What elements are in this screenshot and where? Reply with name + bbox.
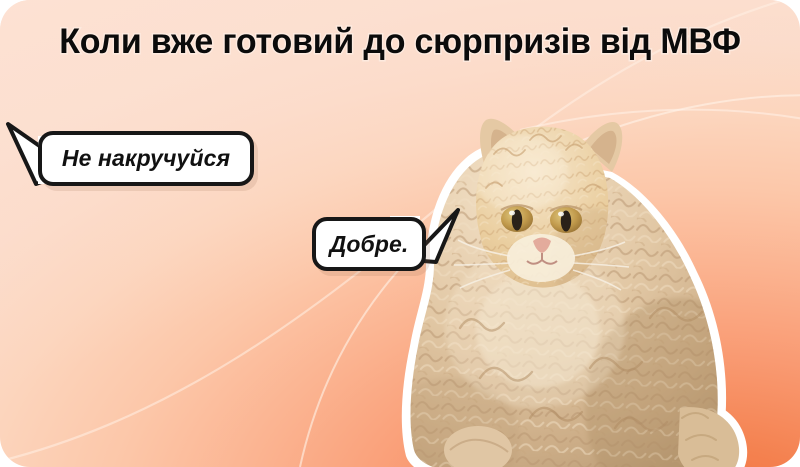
meme-canvas: Коли вже готовий до сюрпризів від МВФ Не… — [0, 0, 800, 467]
speech-bubble-two: Добре. — [312, 217, 426, 271]
page-title: Коли вже готовий до сюрпризів від МВФ — [12, 22, 788, 62]
speech-bubble-one: Не накручуйся — [38, 131, 254, 186]
